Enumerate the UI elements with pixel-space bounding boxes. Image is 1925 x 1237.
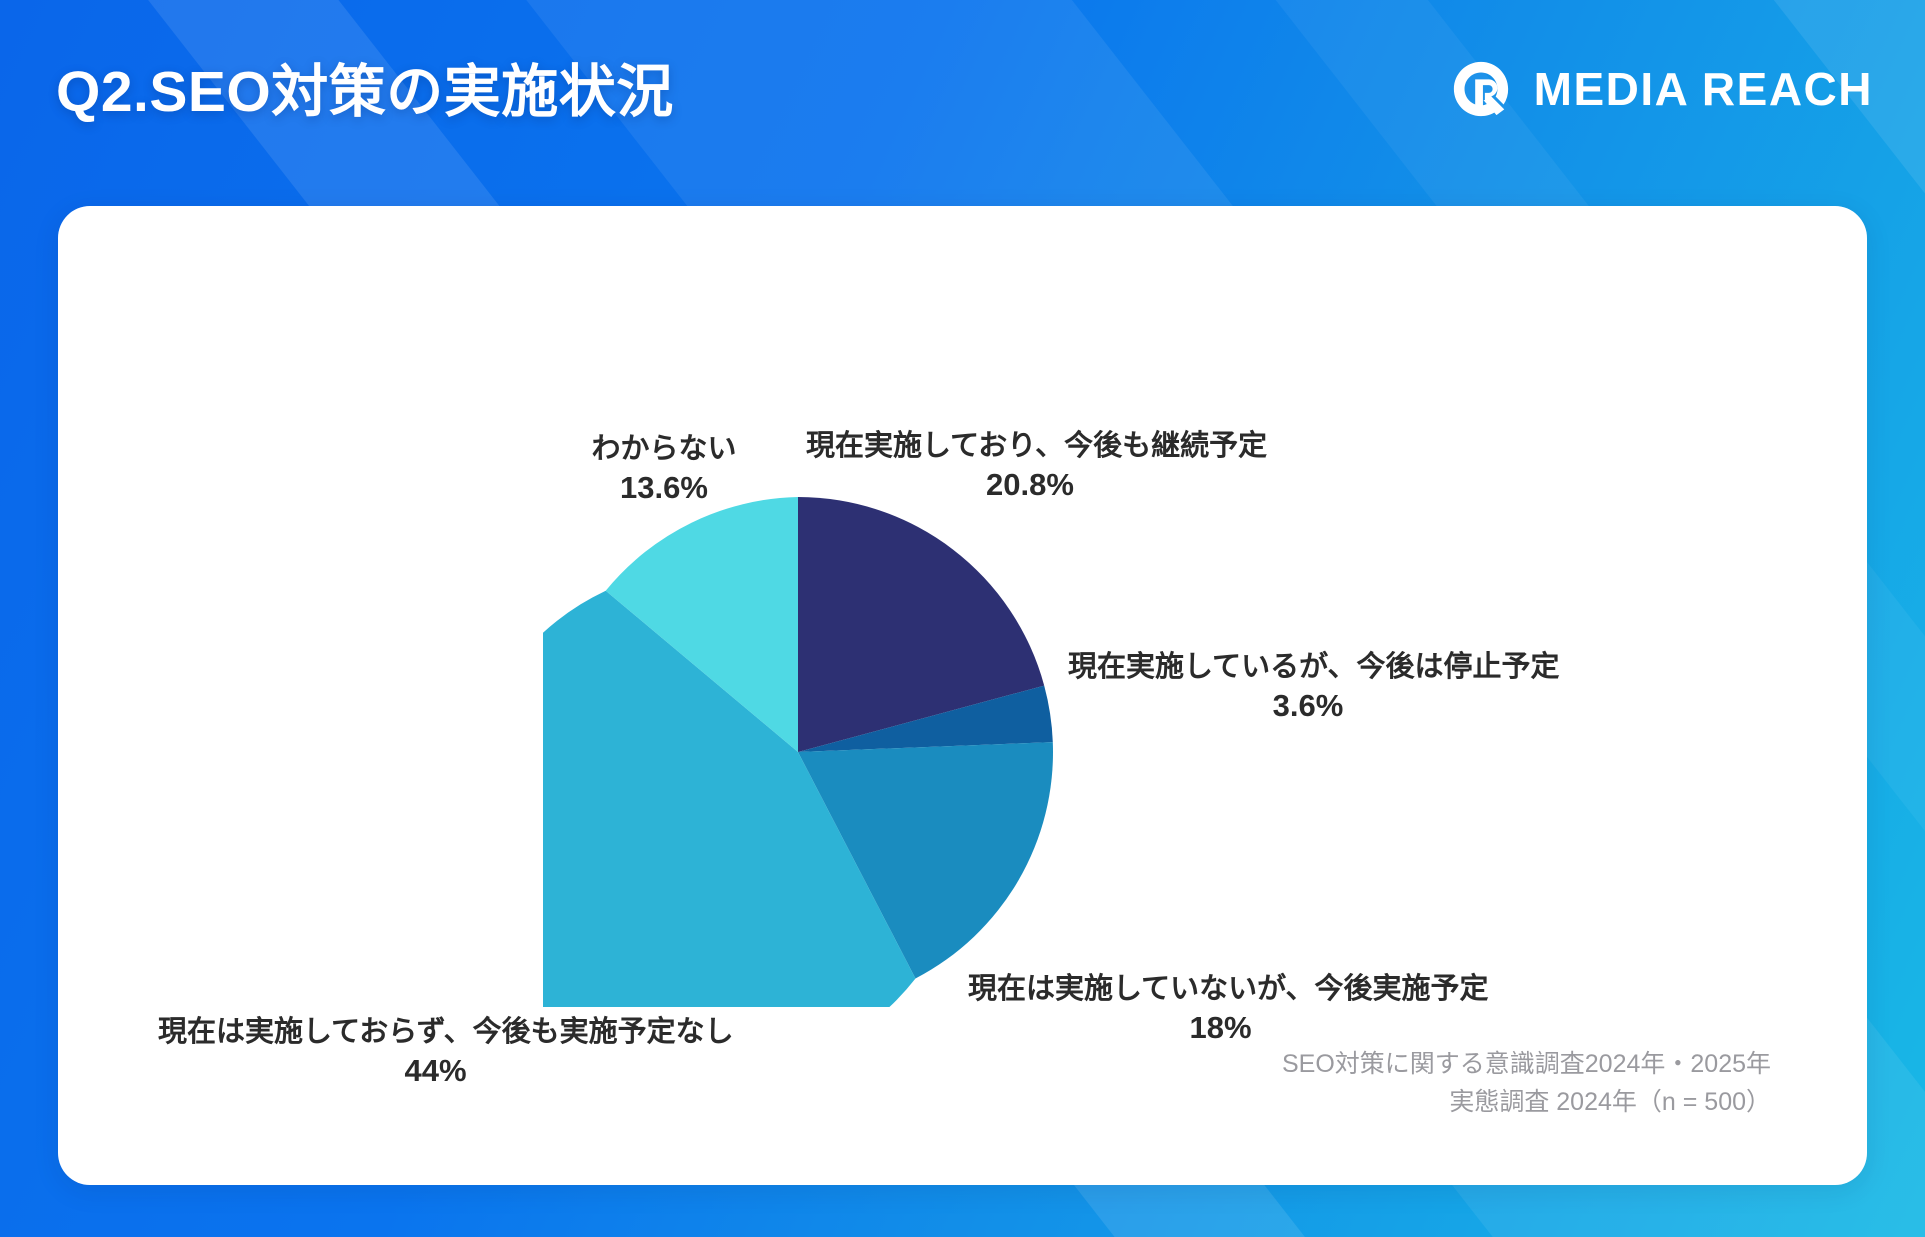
chart-card: わからない 13.6% 現在実施しており、今後も継続予定 20.8% 現在実施し… bbox=[58, 206, 1867, 1185]
source-footnote: SEO対策に関する意識調査2024年・2025年 実態調査 2024年（n = … bbox=[1282, 1046, 1771, 1121]
pie-label-plan-value: 18% bbox=[968, 1008, 1473, 1048]
brand-name: MEDIA REACH bbox=[1534, 62, 1873, 116]
source-footnote-line2: 実態調査 2024年（n = 500） bbox=[1282, 1084, 1771, 1122]
pie-label-stop-text: 現在実施しているが、今後は停止予定 bbox=[1068, 649, 1548, 686]
media-reach-logo-mark-icon bbox=[1450, 58, 1512, 120]
source-footnote-line1: SEO対策に関する意識調査2024年・2025年 bbox=[1282, 1046, 1771, 1084]
pie-label-plan: 現在は実施していないが、今後実施予定 18% bbox=[968, 971, 1473, 1048]
pie-label-continue-text: 現在実施しており、今後も継続予定 bbox=[806, 428, 1254, 465]
pie-label-none-text: 現在は実施しておらず、今後も実施予定なし bbox=[158, 1014, 713, 1051]
pie-label-none-value: 44% bbox=[158, 1051, 713, 1091]
pie-chart bbox=[543, 497, 1053, 1007]
page-title: Q2.SEO対策の実施状況 bbox=[56, 46, 674, 128]
pie-label-unknown-value: 13.6% bbox=[589, 468, 739, 508]
brand-logo: MEDIA REACH bbox=[1450, 58, 1873, 120]
pie-label-stop-value: 3.6% bbox=[1068, 686, 1548, 726]
pie-label-unknown: わからない 13.6% bbox=[589, 431, 739, 508]
pie-label-stop: 現在実施しているが、今後は停止予定 3.6% bbox=[1068, 649, 1548, 726]
pie-label-continue: 現在実施しており、今後も継続予定 20.8% bbox=[806, 428, 1254, 505]
pie-label-plan-text: 現在は実施していないが、今後実施予定 bbox=[968, 971, 1473, 1008]
pie-label-continue-value: 20.8% bbox=[806, 465, 1254, 505]
pie-chart-svg bbox=[543, 497, 1053, 1007]
pie-label-none: 現在は実施しておらず、今後も実施予定なし 44% bbox=[158, 1014, 713, 1091]
pie-label-unknown-text: わからない bbox=[589, 431, 739, 468]
